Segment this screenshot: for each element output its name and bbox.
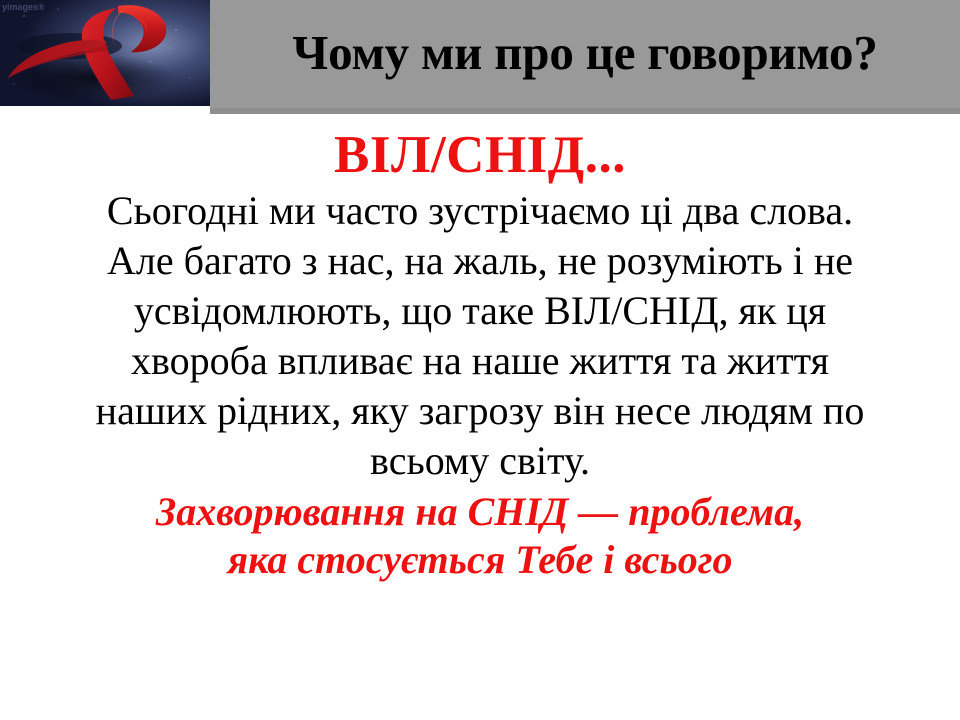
body-line: хвороба впливає на наше життя та життя — [18, 336, 942, 386]
title-banner-shadow — [210, 108, 960, 114]
closing-statement: Захворювання на СНІД — проблема, яка сто… — [0, 488, 960, 584]
slide-content: ВІЛ/СНІД... Сьогодні ми часто зустрічаєм… — [0, 126, 960, 584]
closing-line: Захворювання на СНІД — проблема, — [0, 488, 960, 536]
lead-heading: ВІЛ/СНІД... — [0, 126, 960, 184]
body-line: всьому світу. — [18, 436, 942, 486]
body-line: Але багато з нас, на жаль, не розуміють … — [18, 236, 942, 286]
red-aids-ribbon-photo: yimages® — [0, 0, 211, 106]
body-line: усвідомлюють, що таке ВІЛ/СНІД, як ця — [18, 286, 942, 336]
body-line: Сьогодні ми часто зустрічаємо ці два сло… — [18, 186, 942, 236]
closing-line: яка стосується Тебе і всього — [0, 536, 960, 584]
svg-text:yimages®: yimages® — [2, 2, 45, 12]
page-title: Чому ми про це говоримо? — [210, 0, 960, 108]
presentation-slide: yimages® Чому ми про це говоримо? ВІЛ/СН… — [0, 0, 960, 720]
slide-header: yimages® Чому ми про це говоримо? — [0, 0, 960, 113]
body-paragraph: Сьогодні ми часто зустрічаємо ці два сло… — [0, 186, 960, 486]
body-line: наших рідних, яку загрозу він несе людям… — [18, 386, 942, 436]
